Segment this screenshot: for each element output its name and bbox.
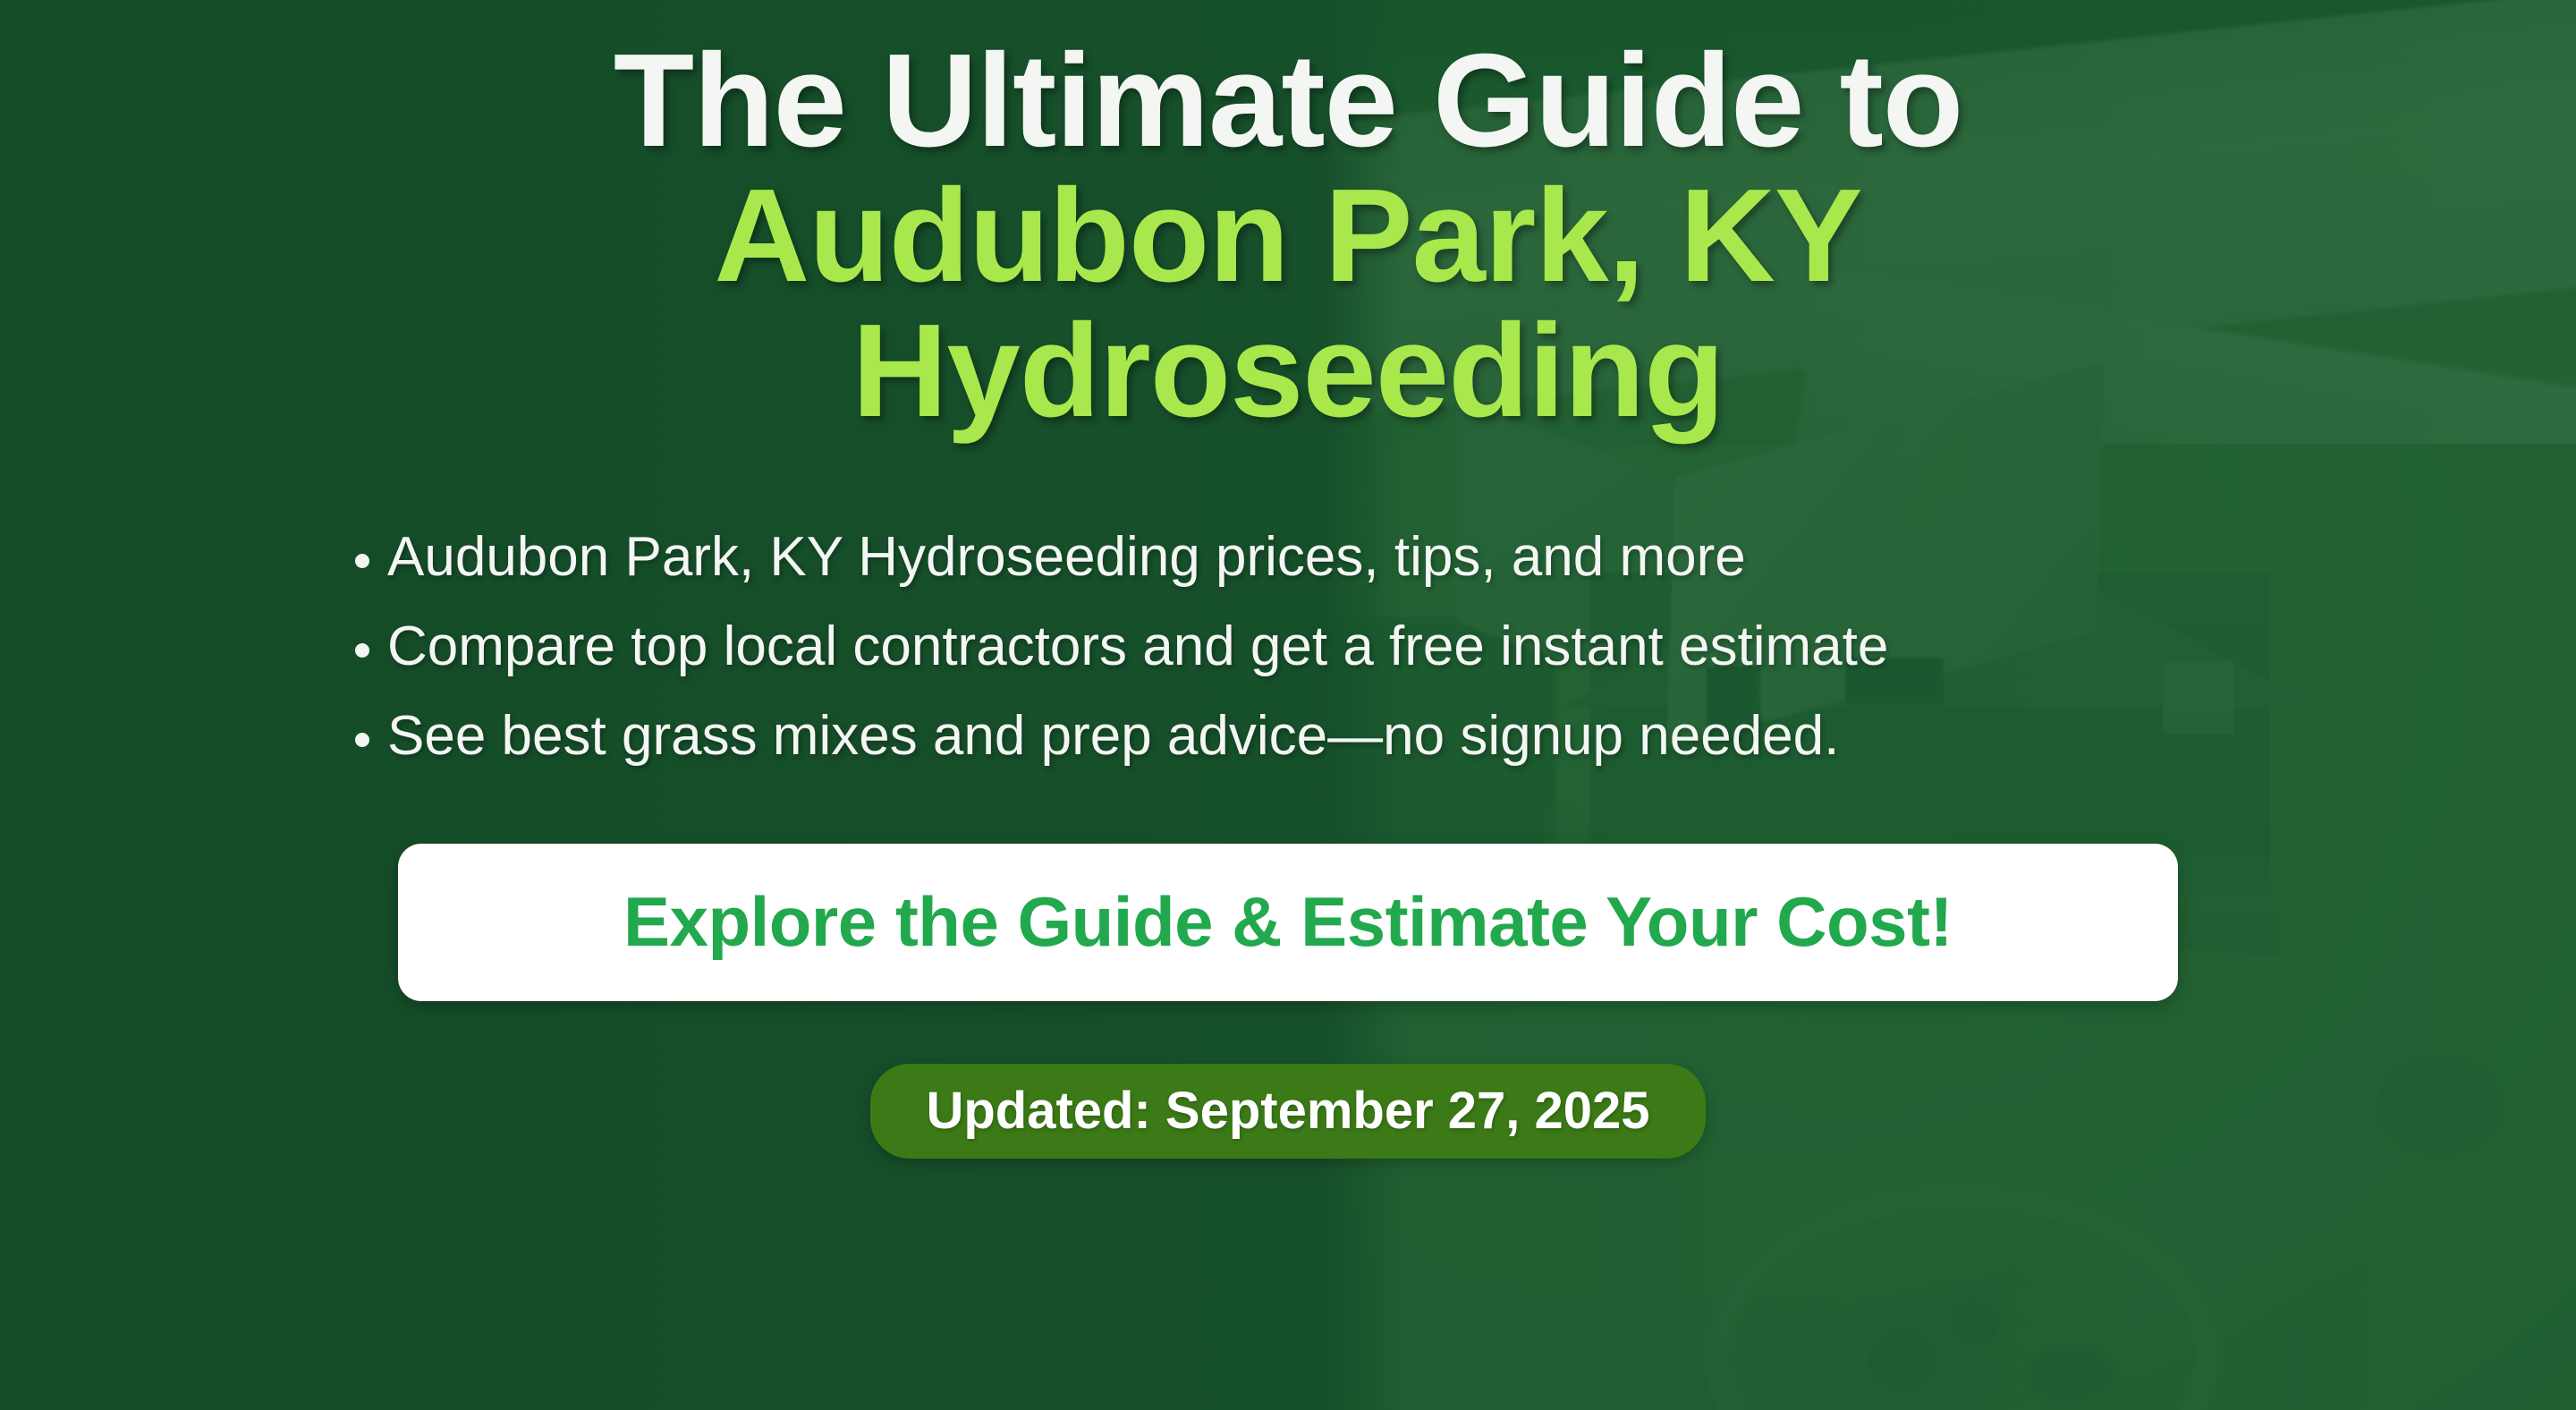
list-item: Audubon Park, KY Hydroseeding prices, ti… [335, 525, 2241, 590]
hero-content: The Ultimate Guide to Audubon Park, KY H… [0, 0, 2576, 1410]
page-title-line-1: The Ultimate Guide to [614, 27, 1962, 174]
page-title-accent-line-2: Hydroseeding [394, 304, 2182, 439]
explore-guide-cta-button[interactable]: Explore the Guide & Estimate Your Cost! [398, 844, 2178, 1001]
list-item: Compare top local contractors and get a … [335, 615, 2241, 679]
list-item: See best grass mixes and prep advice—no … [335, 704, 2241, 769]
updated-date-badge: Updated: September 27, 2025 [870, 1064, 1705, 1159]
hero-banner: The Ultimate Guide to Audubon Park, KY H… [0, 0, 2576, 1410]
page-title: The Ultimate Guide to Audubon Park, KY H… [394, 0, 2182, 439]
page-title-accent-line-1: Audubon Park, KY [394, 169, 2182, 304]
feature-bullet-list: Audubon Park, KY Hydroseeding prices, ti… [335, 525, 2241, 794]
